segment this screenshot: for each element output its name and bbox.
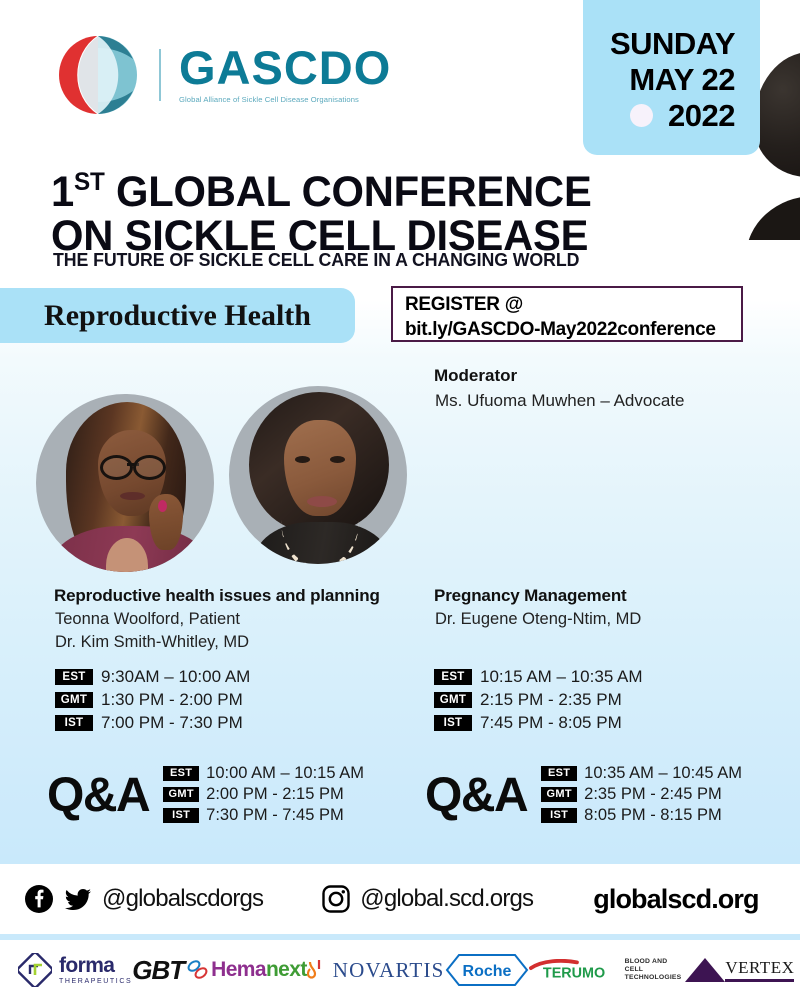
portrait-2-eye-right xyxy=(330,456,345,463)
topic-badge: Reproductive Health xyxy=(0,288,355,343)
time-row: GMT 2:15 PM - 2:35 PM xyxy=(434,690,643,710)
qa-block-right: Q&A EST 10:35 AM – 10:45 AM GMT 2:35 PM … xyxy=(425,764,742,827)
sponsor-forma: forma THERAPEUTICS xyxy=(18,953,132,987)
gascdo-logo-mark xyxy=(57,34,139,116)
vertex-triangle-icon xyxy=(685,958,725,982)
sponsor-gbt: GBT xyxy=(132,955,211,986)
date-monthday: MAY 22 xyxy=(583,62,760,98)
novartis-name: NOVARTIS xyxy=(333,958,445,983)
qa-left-times: EST 10:00 AM – 10:15 AM GMT 2:00 PM - 2:… xyxy=(163,764,364,827)
portrait-2-lips xyxy=(307,496,337,507)
sponsor-hemanext: Hemanext xyxy=(211,958,307,982)
headline-ordinal: 1 xyxy=(51,168,74,216)
gbt-name: GBT xyxy=(132,955,184,986)
sponsor-bar: forma THERAPEUTICS GBT Hemanext xyxy=(0,940,800,1000)
date-weekday: SUNDAY xyxy=(583,26,760,62)
time-value: 2:00 PM - 2:15 PM xyxy=(206,785,344,804)
logo-wordmark: GASCDO xyxy=(179,46,391,90)
vertex-name: VERTEX xyxy=(725,958,794,982)
moderator-name: Ms. Ufuoma Muwhen – Advocate xyxy=(434,391,684,411)
time-value: 2:35 PM - 2:45 PM xyxy=(584,785,722,804)
time-row: EST 10:00 AM – 10:15 AM xyxy=(163,764,364,783)
time-row: IST 7:30 PM - 7:45 PM xyxy=(163,806,364,825)
register-box[interactable]: REGISTER @ bit.ly/GASCDO-May2022conferen… xyxy=(391,286,743,342)
corner-portrait-shoulder xyxy=(746,196,800,240)
time-row: EST 9:30AM – 10:00 AM xyxy=(55,667,250,687)
svg-text:TERUMO: TERUMO xyxy=(542,966,604,981)
session-left-speaker-1: Teonna Woolford, Patient xyxy=(54,610,380,629)
timezone-badge: GMT xyxy=(163,787,199,802)
session-left: Reproductive health issues and planning … xyxy=(54,586,380,652)
headline-superscript: ST xyxy=(74,168,105,196)
forma-sub: THERAPEUTICS xyxy=(59,978,132,985)
corner-portrait-head xyxy=(754,52,800,177)
time-value: 9:30AM – 10:00 AM xyxy=(101,667,250,687)
time-value: 7:30 PM - 7:45 PM xyxy=(206,806,344,825)
portrait-1-nail xyxy=(158,500,167,512)
speaker-portrait-2 xyxy=(229,386,407,564)
time-row: GMT 2:35 PM - 2:45 PM xyxy=(541,785,742,804)
social-handle-instagram[interactable]: @global.scd.orgs xyxy=(360,885,533,913)
social-instagram-group[interactable]: @global.scd.orgs xyxy=(321,884,533,914)
facebook-icon[interactable] xyxy=(24,884,54,914)
time-value: 10:15 AM – 10:35 AM xyxy=(480,667,643,687)
website-url[interactable]: globalscd.org xyxy=(593,884,758,915)
timezone-badge: IST xyxy=(434,715,472,731)
session-left-times: EST 9:30AM – 10:00 AM GMT 1:30 PM - 2:00… xyxy=(55,667,250,736)
time-row: EST 10:15 AM – 10:35 AM xyxy=(434,667,643,687)
timezone-badge: GMT xyxy=(541,787,577,802)
timezone-badge: EST xyxy=(434,669,472,685)
session-right-times: EST 10:15 AM – 10:35 AM GMT 2:15 PM - 2:… xyxy=(434,667,643,736)
time-row: IST 7:00 PM - 7:30 PM xyxy=(55,713,250,733)
qa-block-left: Q&A EST 10:00 AM – 10:15 AM GMT 2:00 PM … xyxy=(47,764,364,827)
page-subtitle: THE FUTURE OF SICKLE CELL CARE IN A CHAN… xyxy=(53,249,579,271)
register-heading: REGISTER @ xyxy=(405,292,741,317)
forma-wordmark: forma THERAPEUTICS xyxy=(59,955,132,985)
speaker-portrait-1 xyxy=(36,394,214,572)
date-badge-dot xyxy=(630,104,653,127)
gascdo-logo: GASCDO Global Alliance of Sickle Cell Di… xyxy=(57,34,391,116)
time-value: 10:35 AM – 10:45 AM xyxy=(584,764,742,783)
session-left-speaker-2: Dr. Kim Smith-Whitley, MD xyxy=(54,633,380,652)
timezone-badge: IST xyxy=(55,715,93,731)
page-title: 1ST GLOBAL CONFERENCE ON SICKLE CELL DIS… xyxy=(51,160,730,258)
time-row: GMT 1:30 PM - 2:00 PM xyxy=(55,690,250,710)
timezone-badge: IST xyxy=(541,808,577,823)
gbt-logo-icon xyxy=(185,957,211,983)
portrait-2-necklace xyxy=(281,520,359,564)
date-year: 2022 xyxy=(583,98,760,134)
glasses-icon xyxy=(100,455,166,474)
instagram-icon[interactable] xyxy=(321,884,351,914)
qa-label: Q&A xyxy=(47,768,149,823)
register-link[interactable]: bit.ly/GASCDO-May2022conference xyxy=(405,317,741,342)
moderator-heading: Moderator xyxy=(434,366,684,386)
sponsor-roche: Roche xyxy=(445,953,529,987)
session-right: Pregnancy Management Dr. Eugene Oteng-Nt… xyxy=(434,586,641,629)
time-row: IST 8:05 PM - 8:15 PM xyxy=(541,806,742,825)
portrait-2-eye-left xyxy=(295,456,310,463)
social-fb-tw-group[interactable]: @globalscdorgs xyxy=(24,884,263,914)
time-value: 7:45 PM - 8:05 PM xyxy=(480,713,622,733)
svg-text:Roche: Roche xyxy=(462,963,511,980)
timezone-badge: IST xyxy=(163,808,199,823)
timezone-badge: EST xyxy=(541,766,577,781)
terumo-logo-icon: TERUMO xyxy=(529,959,620,981)
moderator-block: Moderator Ms. Ufuoma Muwhen – Advocate xyxy=(434,366,684,411)
twitter-icon[interactable] xyxy=(63,884,93,914)
timezone-badge: EST xyxy=(163,766,199,781)
roche-logo-icon: Roche xyxy=(445,953,529,987)
portrait-1-lips xyxy=(120,492,145,500)
qa-right-times: EST 10:35 AM – 10:45 AM GMT 2:35 PM - 2:… xyxy=(541,764,742,827)
forma-logo-icon xyxy=(18,953,52,987)
conference-poster: SUNDAY MAY 22 2022 GASCDO Global Allianc… xyxy=(0,0,800,1000)
timezone-badge: GMT xyxy=(55,692,93,708)
time-row: IST 7:45 PM - 8:05 PM xyxy=(434,713,643,733)
social-bar: @globalscdorgs @global.scd.orgs globalsc… xyxy=(0,864,800,934)
time-row: GMT 2:00 PM - 2:15 PM xyxy=(163,785,364,804)
logo-tagline: Global Alliance of Sickle Cell Disease O… xyxy=(179,95,391,104)
terumo-sub-1: BLOOD AND CELL xyxy=(625,958,686,974)
time-row: EST 10:35 AM – 10:45 AM xyxy=(541,764,742,783)
logo-divider xyxy=(159,49,161,101)
headline-line1: GLOBAL CONFERENCE xyxy=(105,168,592,216)
time-value: 2:15 PM - 2:35 PM xyxy=(480,690,622,710)
session-left-title: Reproductive health issues and planning xyxy=(54,586,380,606)
time-value: 1:30 PM - 2:00 PM xyxy=(101,690,243,710)
sponsor-terumo: TERUMO BLOOD AND CELL TECHNOLOGIES xyxy=(529,958,686,982)
novartis-logo-icon xyxy=(307,958,326,982)
social-handle-fb-tw[interactable]: @globalscdorgs xyxy=(102,885,263,913)
sponsor-novartis: NOVARTIS xyxy=(307,958,445,983)
qa-label: Q&A xyxy=(425,768,527,823)
forma-name: forma xyxy=(59,955,132,976)
time-value: 7:00 PM - 7:30 PM xyxy=(101,713,243,733)
hemanext-name-b: next xyxy=(266,958,307,982)
time-value: 10:00 AM – 10:15 AM xyxy=(206,764,364,783)
session-right-title: Pregnancy Management xyxy=(434,586,641,606)
timezone-badge: EST xyxy=(55,669,93,685)
session-right-speaker-1: Dr. Eugene Oteng-Ntim, MD xyxy=(434,610,641,629)
time-value: 8:05 PM - 8:15 PM xyxy=(584,806,722,825)
date-badge: SUNDAY MAY 22 2022 xyxy=(583,0,760,155)
terumo-sub-2: TECHNOLOGIES xyxy=(625,974,686,982)
sponsor-vertex: VERTEX xyxy=(685,958,794,983)
hemanext-name-a: Hema xyxy=(211,958,266,982)
timezone-badge: GMT xyxy=(434,692,472,708)
terumo-sub: BLOOD AND CELL TECHNOLOGIES xyxy=(625,958,686,982)
topic-badge-label: Reproductive Health xyxy=(34,299,311,333)
